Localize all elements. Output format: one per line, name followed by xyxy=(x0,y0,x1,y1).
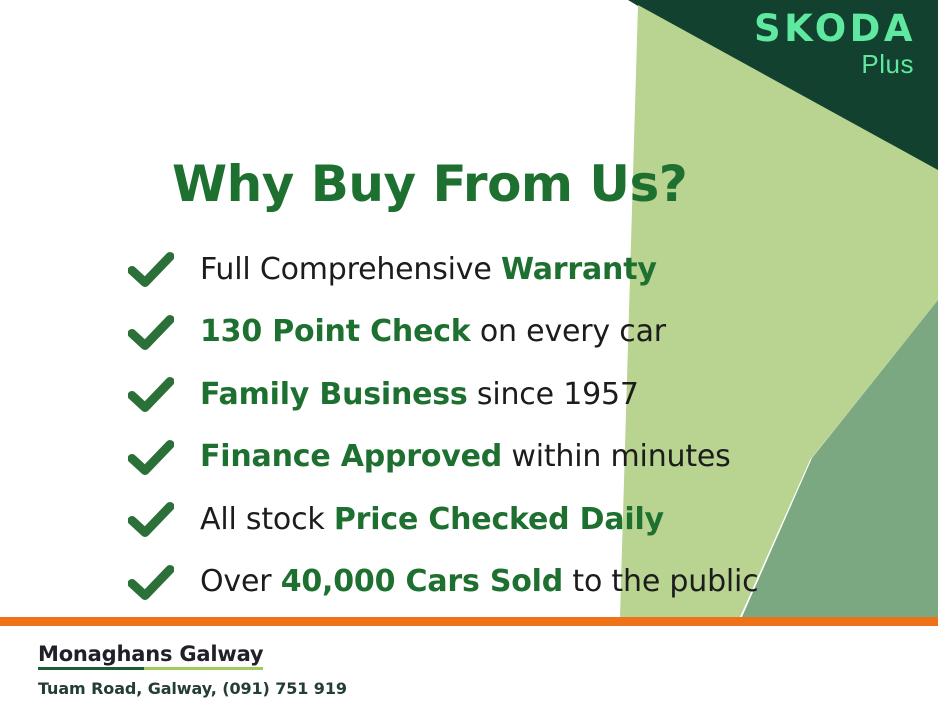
benefit-text: Over 40,000 Cars Sold to the public xyxy=(200,564,758,599)
promo-poster: SKODA Plus Why Buy From Us? Full Compreh… xyxy=(0,0,938,704)
benefit-text: Full Comprehensive Warranty xyxy=(200,252,657,287)
list-item: Over 40,000 Cars Sold to the public xyxy=(128,551,758,614)
dealer-name: Monaghans Galway xyxy=(38,642,263,670)
dealer-address: Tuam Road, Galway, (091) 751 919 xyxy=(38,679,347,698)
dealer-name-text: Monaghans Galway xyxy=(38,642,263,666)
check-icon xyxy=(128,314,174,350)
check-icon xyxy=(128,439,174,475)
benefit-text-plain: to the public xyxy=(563,564,758,599)
benefit-text-plain: Over xyxy=(200,564,281,599)
benefit-text-emphasis: 40,000 Cars Sold xyxy=(281,564,563,599)
page-title: Why Buy From Us? xyxy=(172,155,687,213)
sage-green-shape xyxy=(742,300,938,617)
benefit-text-plain: on every car xyxy=(471,314,666,349)
benefit-text-plain: since 1957 xyxy=(468,377,639,412)
benefits-list: Full Comprehensive Warranty130 Point Che… xyxy=(128,238,758,613)
skoda-wordmark: SKODA xyxy=(754,10,916,47)
list-item: Family Business since 1957 xyxy=(128,363,758,426)
benefit-text-emphasis: Family Business xyxy=(200,377,468,412)
footer: Monaghans Galway Tuam Road, Galway, (091… xyxy=(38,642,347,698)
brand-logo: SKODA Plus xyxy=(754,10,916,77)
check-icon xyxy=(128,251,174,287)
benefit-text-emphasis: Warranty xyxy=(501,252,657,287)
underline-light-segment xyxy=(144,667,263,670)
list-item: Full Comprehensive Warranty xyxy=(128,238,758,301)
benefit-text-emphasis: 130 Point Check xyxy=(200,314,471,349)
benefit-text-emphasis: Finance Approved xyxy=(200,439,502,474)
benefit-text-plain: Full Comprehensive xyxy=(200,252,501,287)
dealer-name-underline xyxy=(38,667,263,670)
check-icon xyxy=(128,564,174,600)
benefit-text: Finance Approved within minutes xyxy=(200,439,731,474)
check-icon xyxy=(128,376,174,412)
benefit-text: Family Business since 1957 xyxy=(200,377,639,412)
benefit-text-plain: All stock xyxy=(200,502,334,537)
list-item: Finance Approved within minutes xyxy=(128,426,758,489)
underline-dark-segment xyxy=(38,667,144,670)
list-item: 130 Point Check on every car xyxy=(128,301,758,364)
orange-divider-bar xyxy=(0,617,938,626)
benefit-text-plain: within minutes xyxy=(502,439,731,474)
benefit-text: 130 Point Check on every car xyxy=(200,314,666,349)
benefit-text: All stock Price Checked Daily xyxy=(200,502,664,537)
plus-subtitle: Plus xyxy=(754,51,914,77)
benefit-text-emphasis: Price Checked Daily xyxy=(334,502,664,537)
list-item: All stock Price Checked Daily xyxy=(128,488,758,551)
check-icon xyxy=(128,501,174,537)
